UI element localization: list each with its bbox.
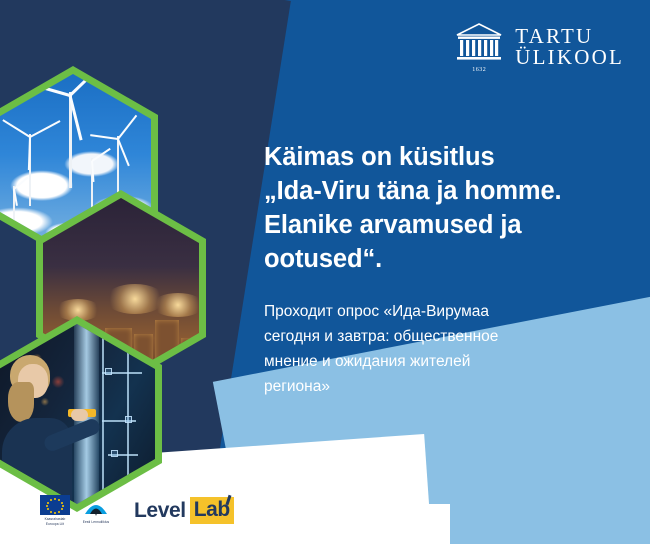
- estonia-swallow-icon: Eesti Lennuliiklus: [82, 498, 110, 524]
- eu-logo-caption: Kaasrahastab Euroopa Liit: [40, 517, 70, 526]
- headline-line-3: Elanike arvamused ja: [264, 208, 632, 242]
- university-founded-year: 1632: [455, 67, 503, 73]
- headline: Käimas on küsitlus „Ida-Viru täna ja hom…: [264, 140, 632, 277]
- circuit-line: [102, 334, 104, 494]
- university-name-line1: TARTU: [515, 26, 624, 47]
- headline-line-2: „Ida-Viru täna ja homme.: [264, 174, 632, 208]
- estonia-logo-caption: Eesti Lennuliiklus: [82, 520, 110, 524]
- subheading-line-4: региона»: [264, 374, 632, 399]
- swallow-svg: [82, 498, 110, 518]
- headline-line-1: Käimas on küsitlus: [264, 140, 632, 174]
- circuit-node: [111, 450, 118, 457]
- city-building: [181, 338, 199, 378]
- circuit-node: [105, 368, 112, 375]
- levellab-word-level: Level: [134, 499, 186, 523]
- subheading-line-2: сегодня и завтра: общественное: [264, 324, 632, 349]
- text-content: Käimas on küsitlus „Ida-Viru täna ja hom…: [264, 140, 632, 399]
- levellab-logo: Level Lab: [134, 497, 234, 524]
- university-building-svg: [455, 22, 503, 66]
- university-name-line2: ÜLIKOOL: [515, 47, 624, 68]
- subheading: Проходит опрос «Ида-Вирумаа сегодня и за…: [264, 299, 632, 399]
- hexagon-photo-collage: [0, 66, 200, 466]
- subheading-line-3: мнение и ожидания жителей: [264, 349, 632, 374]
- university-building-icon: 1632: [455, 22, 503, 72]
- headline-line-4: ootused“.: [264, 242, 632, 276]
- university-logo: 1632 TARTU ÜLIKOOL: [455, 22, 624, 72]
- european-union-flag-icon: Kaasrahastab Euroopa Liit: [40, 495, 70, 526]
- estonia-swallow-graphic: [82, 498, 110, 518]
- circuit-line: [127, 350, 129, 480]
- subheading-line-1: Проходит опрос «Ида-Вирумаа: [264, 299, 632, 324]
- eu-flag-graphic: [40, 495, 70, 515]
- promotional-poster: 1632 TARTU ÜLIKOOL Käimas on küsitlus „I…: [0, 0, 650, 544]
- woman-hand: [71, 409, 88, 421]
- woman-digital-panel-photo-inner: [0, 324, 155, 504]
- circuit-node: [125, 416, 132, 423]
- woman-hair-back: [8, 382, 34, 422]
- footer-logo-row: Kaasrahastab Euroopa Liit Eesti Lennulii…: [40, 495, 234, 526]
- university-wordmark: TARTU ÜLIKOOL: [515, 26, 624, 69]
